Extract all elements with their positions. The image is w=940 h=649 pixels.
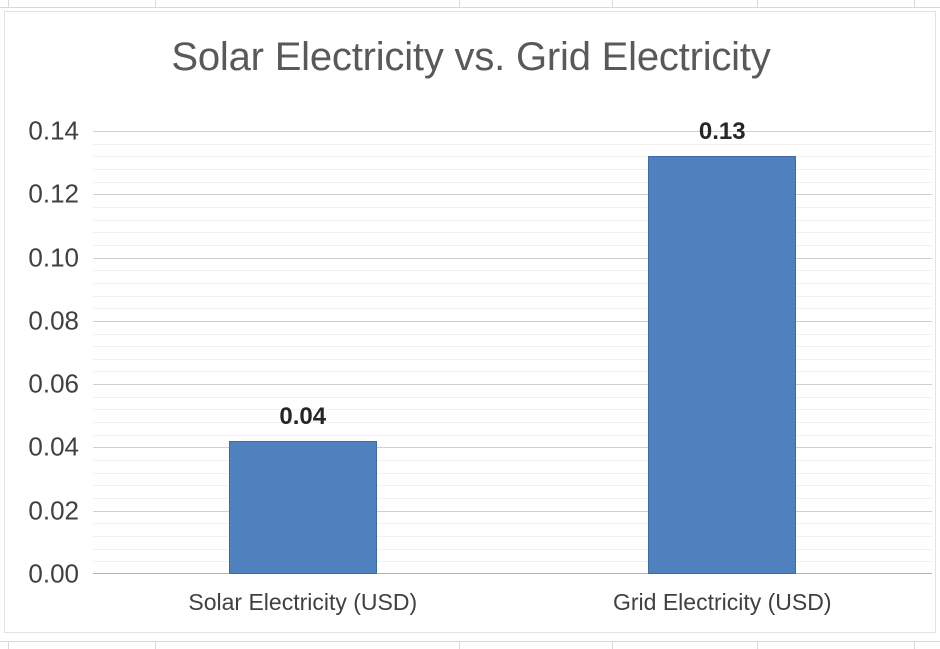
gridline-minor xyxy=(93,270,932,271)
gridline-minor xyxy=(93,182,932,183)
gridline-minor xyxy=(93,473,932,474)
chart-title: Solar Electricity vs. Grid Electricity xyxy=(5,35,937,80)
gridline-major xyxy=(93,258,932,259)
gridline-minor xyxy=(93,485,932,486)
sheet-column-divider xyxy=(155,0,156,8)
y-axis-tick-label: 0.00 xyxy=(28,559,79,590)
gridline-minor xyxy=(93,536,932,537)
chart-object[interactable]: Solar Electricity vs. Grid Electricity 0… xyxy=(4,11,936,633)
sheet-column-divider xyxy=(155,641,156,649)
gridline-major xyxy=(93,194,932,195)
gridline-minor xyxy=(93,245,932,246)
x-axis-category-label: Solar Electricity (USD) xyxy=(188,589,417,616)
bar-data-label: 0.04 xyxy=(279,403,326,431)
y-axis-tick-label: 0.14 xyxy=(28,116,79,147)
gridline-minor xyxy=(93,296,932,297)
gridline-minor xyxy=(93,359,932,360)
gridline-minor xyxy=(93,232,932,233)
sheet-column-divider xyxy=(459,0,460,8)
gridline-major xyxy=(93,447,932,448)
gridline-minor xyxy=(93,549,932,550)
sheet-column-divider xyxy=(757,0,758,8)
gridline-minor xyxy=(93,561,932,562)
gridline-minor xyxy=(93,435,932,436)
gridline-minor xyxy=(93,371,932,372)
gridline-minor xyxy=(93,220,932,221)
sheet-row-divider xyxy=(0,7,940,8)
gridline-minor xyxy=(93,346,932,347)
y-axis-tick-label: 0.10 xyxy=(28,242,79,273)
gridline-minor xyxy=(93,523,932,524)
gridline-major xyxy=(93,384,932,385)
plot-area: 0.000.020.040.060.080.100.120.14 0.040.1… xyxy=(93,131,932,574)
sheet-column-divider xyxy=(8,0,9,8)
y-axis-tick-label: 0.06 xyxy=(28,369,79,400)
gridline-major xyxy=(93,131,932,132)
gridline-minor xyxy=(93,144,932,145)
sheet-column-divider xyxy=(612,0,613,8)
gridline-minor xyxy=(93,283,932,284)
bar[interactable] xyxy=(229,441,377,574)
gridline-minor xyxy=(93,156,932,157)
sheet-column-divider xyxy=(459,641,460,649)
gridline-minor xyxy=(93,207,932,208)
x-axis-category-label: Grid Electricity (USD) xyxy=(613,589,832,616)
sheet-column-divider xyxy=(757,641,758,649)
y-axis-tick-label: 0.12 xyxy=(28,179,79,210)
gridline-major xyxy=(93,511,932,512)
sheet-column-divider xyxy=(612,641,613,649)
sheet-row-divider xyxy=(0,641,940,642)
sheet-column-divider xyxy=(914,641,915,649)
gridline-minor xyxy=(93,409,932,410)
gridline-major xyxy=(93,321,932,322)
bar[interactable] xyxy=(648,156,796,574)
gridline-minor xyxy=(93,460,932,461)
gridline-minor xyxy=(93,498,932,499)
gridline-minor xyxy=(93,334,932,335)
gridline-minor xyxy=(93,308,932,309)
y-axis-tick-label: 0.02 xyxy=(28,495,79,526)
bar-data-label: 0.13 xyxy=(699,118,746,146)
sheet-column-divider xyxy=(914,0,915,8)
sheet-column-divider xyxy=(8,641,9,649)
y-axis-tick-label: 0.04 xyxy=(28,432,79,463)
gridline-minor xyxy=(93,422,932,423)
y-axis-tick-label: 0.08 xyxy=(28,305,79,336)
gridline-minor xyxy=(93,397,932,398)
value-axis-line xyxy=(93,573,932,574)
gridline-minor xyxy=(93,169,932,170)
